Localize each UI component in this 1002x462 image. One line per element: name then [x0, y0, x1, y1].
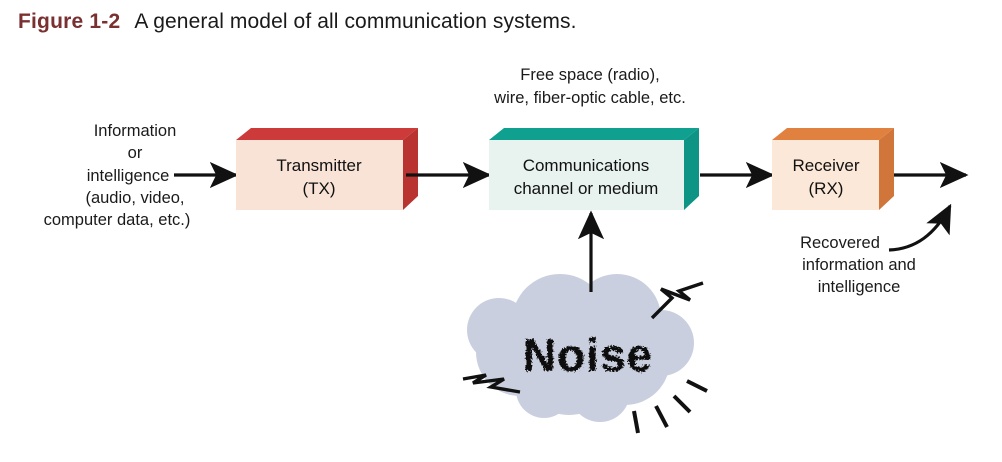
input-label-group: Information or intelligence (audio, vide… [44, 122, 191, 229]
receiver-block[interactable]: Receiver (RX) [772, 128, 894, 210]
output-label-line3: intelligence [818, 278, 901, 296]
channel-label-line1: Communications [523, 156, 650, 175]
output-label-line2: information and [802, 256, 916, 274]
receiver-top-bevel [772, 128, 894, 140]
medium-label-group: Free space (radio), wire, fiber-optic ca… [493, 66, 686, 107]
receiver-label-line2: (RX) [809, 179, 844, 198]
channel-face [489, 140, 684, 210]
medium-label-line2: wire, fiber-optic cable, etc. [493, 89, 686, 107]
input-label-line5: computer data, etc.) [44, 211, 191, 229]
channel-side-bevel [684, 128, 699, 210]
figure-container: Figure 1-2A general model of all communi… [0, 0, 1002, 462]
transmitter-top-bevel [236, 128, 418, 140]
noise-cloud-group: Noise [467, 274, 694, 422]
channel-label-line2: channel or medium [514, 179, 659, 198]
input-label-line2: or [128, 144, 143, 162]
output-label-line1: Recovered [800, 234, 880, 252]
input-label-line1: Information [94, 122, 177, 140]
transmitter-side-bevel [403, 128, 418, 210]
channel-top-bevel [489, 128, 699, 140]
receiver-label-line1: Receiver [792, 156, 859, 175]
transmitter-label-line2: (TX) [302, 179, 335, 198]
transmitter-face [236, 140, 403, 210]
input-label-line3: intelligence [87, 167, 170, 185]
lightning-bolt-upper-right-icon [652, 283, 703, 318]
output-label-group: Recovered information and intelligence [800, 234, 916, 296]
noise-label: Noise [523, 329, 653, 381]
recovered-info-leader-arrow [889, 206, 950, 250]
transmitter-label-line1: Transmitter [276, 156, 362, 175]
medium-label-line1: Free space (radio), [520, 66, 659, 84]
receiver-side-bevel [879, 128, 894, 210]
channel-block[interactable]: Communications channel or medium [489, 128, 699, 210]
communication-model-diagram: Information or intelligence (audio, vide… [0, 0, 1002, 462]
receiver-face [772, 140, 879, 210]
input-label-line4: (audio, video, [85, 189, 184, 207]
transmitter-block[interactable]: Transmitter (TX) [236, 128, 418, 210]
